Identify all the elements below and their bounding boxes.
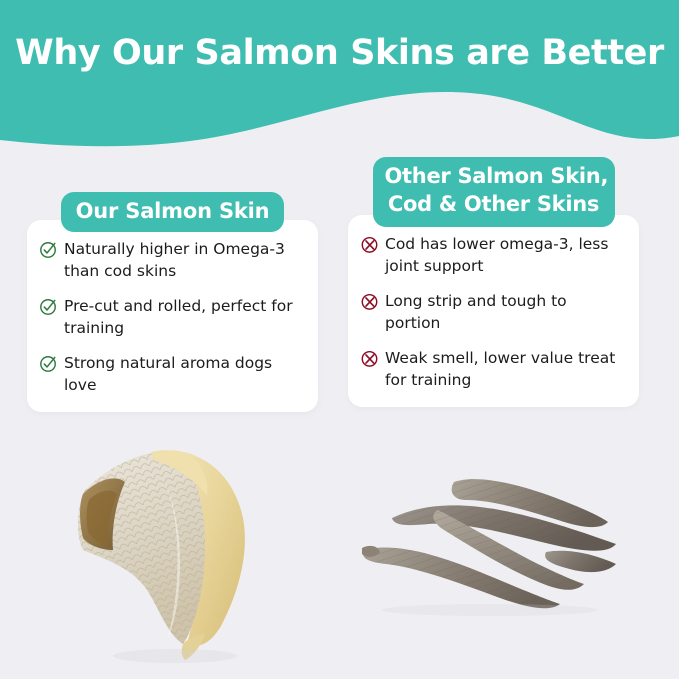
card-other-skins: Cod has lower omega-3, less joint suppor… bbox=[348, 215, 639, 407]
badge-line: Our Salmon Skin bbox=[75, 199, 270, 223]
product-photos bbox=[0, 430, 679, 679]
column-other-skins: Other Salmon Skin, Cod & Other Skins Cod… bbox=[348, 157, 639, 407]
x-circle-icon bbox=[360, 235, 379, 254]
list-item: Long strip and tough to portion bbox=[360, 290, 623, 334]
feature-text: Long strip and tough to portion bbox=[385, 290, 623, 334]
list-item: Weak smell, lower value treat for traini… bbox=[360, 347, 623, 391]
list-item: Pre-cut and rolled, perfect for training bbox=[39, 295, 302, 339]
feature-text: Cod has lower omega-3, less joint suppor… bbox=[385, 233, 623, 277]
badge-line: Other Salmon Skin, bbox=[385, 163, 603, 191]
badge-our-salmon-skin: Our Salmon Skin bbox=[61, 192, 284, 232]
list-item: Naturally higher in Omega-3 than cod ski… bbox=[39, 238, 302, 282]
badge-line: Cod & Other Skins bbox=[385, 191, 603, 219]
x-circle-icon bbox=[360, 349, 379, 368]
badge-other-skins: Other Salmon Skin, Cod & Other Skins bbox=[373, 157, 615, 227]
feature-text: Pre-cut and rolled, perfect for training bbox=[64, 295, 302, 339]
header-banner: Why Our Salmon Skins are Better bbox=[0, 0, 679, 160]
feature-text: Strong natural aroma dogs love bbox=[64, 352, 302, 396]
check-circle-icon bbox=[39, 354, 58, 373]
feature-text: Naturally higher in Omega-3 than cod ski… bbox=[64, 238, 302, 282]
x-circle-icon bbox=[360, 292, 379, 311]
feature-list-pros: Naturally higher in Omega-3 than cod ski… bbox=[39, 238, 302, 396]
comparison-columns: Our Salmon Skin Naturally higher in Omeg… bbox=[0, 157, 679, 447]
card-our-salmon-skin: Naturally higher in Omega-3 than cod ski… bbox=[27, 220, 318, 412]
column-our-salmon-skin: Our Salmon Skin Naturally higher in Omeg… bbox=[27, 157, 318, 412]
product-photo-fish-strips bbox=[350, 460, 625, 620]
page-title: Why Our Salmon Skins are Better bbox=[0, 33, 679, 73]
list-item: Cod has lower omega-3, less joint suppor… bbox=[360, 233, 623, 277]
product-photo-salmon-skin bbox=[55, 438, 305, 663]
feature-list-cons: Cod has lower omega-3, less joint suppor… bbox=[360, 233, 623, 391]
list-item: Strong natural aroma dogs love bbox=[39, 352, 302, 396]
check-circle-icon bbox=[39, 240, 58, 259]
check-circle-icon bbox=[39, 297, 58, 316]
header-wave-shape bbox=[0, 0, 679, 160]
feature-text: Weak smell, lower value treat for traini… bbox=[385, 347, 623, 391]
